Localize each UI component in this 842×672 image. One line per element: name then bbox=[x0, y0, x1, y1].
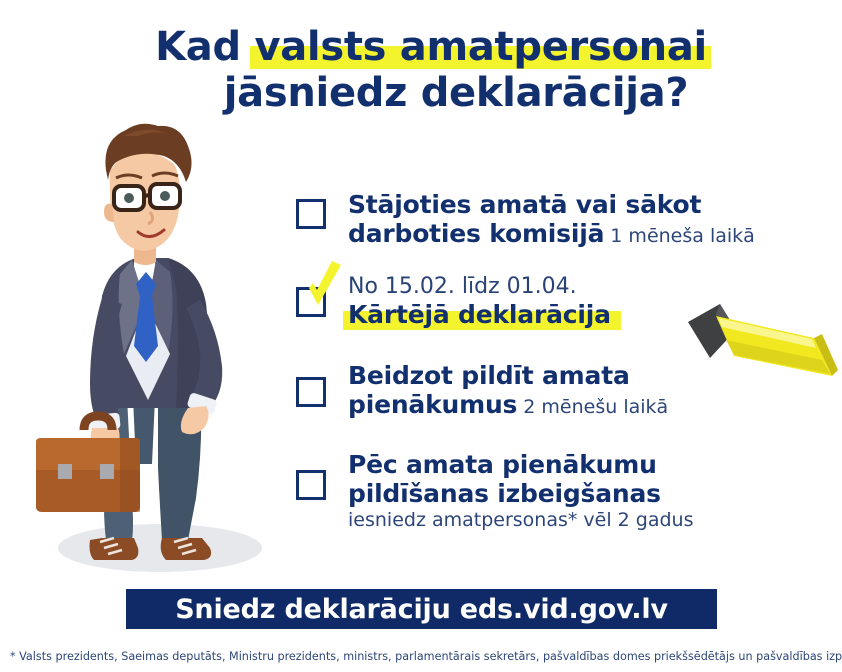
checkbox-unchecked-3[interactable] bbox=[296, 377, 326, 407]
title-plain-text: Kad bbox=[155, 24, 254, 70]
item-1-suffix: 1 mēneša laikā bbox=[604, 225, 755, 247]
checklist-item-2[interactable]: No 15.02. līdz 01.04. Kārtējā deklarācij… bbox=[296, 273, 842, 331]
page-title: Kad valsts amatpersonai jāsniedz deklarā… bbox=[0, 24, 842, 116]
glasses-bridge bbox=[144, 195, 150, 196]
item-4-line-1: Pēc amata pienākumu bbox=[348, 450, 842, 479]
checklist-item-3-text: Beidzot pildīt amata pienākumus 2 mēnešu… bbox=[348, 361, 842, 422]
cta-banner[interactable]: Sniedz deklarāciju eds.vid.gov.lv bbox=[126, 589, 717, 629]
shoe-right bbox=[161, 538, 211, 560]
item-2-date-range: No 15.02. līdz 01.04. bbox=[348, 273, 842, 300]
floor-shadow bbox=[58, 524, 262, 572]
cta-banner-text: Sniedz deklarāciju eds.vid.gov.lv bbox=[175, 594, 668, 625]
declaration-checklist: Stājoties amatā vai sākot darboties komi… bbox=[296, 190, 842, 533]
item-3-line-2: pienākumus 2 mēnešu laikā bbox=[348, 390, 842, 422]
item-4-line-2: pildīšanas izbeigšanas bbox=[348, 479, 842, 508]
checklist-item-4[interactable]: Pēc amata pienākumu pildīšanas izbeigšan… bbox=[296, 450, 842, 533]
item-2-highlighted-label: Kārtējā deklarācija bbox=[348, 300, 611, 329]
item-1-line-2: darboties komisijā 1 mēneša laikā bbox=[348, 219, 842, 251]
businessman-illustration bbox=[28, 108, 288, 578]
item-1-line-1: Stājoties amatā vai sākot bbox=[348, 190, 842, 219]
checkbox-unchecked-1[interactable] bbox=[296, 199, 326, 229]
briefcase-clasp-right bbox=[100, 464, 114, 479]
checkbox-checked-2[interactable] bbox=[296, 287, 326, 317]
briefcase-clasp-left bbox=[58, 464, 72, 479]
title-highlighted-text: valsts amatpersonai bbox=[254, 24, 706, 70]
checklist-item-4-text: Pēc amata pienākumu pildīšanas izbeigšan… bbox=[348, 450, 842, 533]
shoe-left bbox=[90, 538, 139, 560]
checklist-item-3[interactable]: Beidzot pildīt amata pienākumus 2 mēnešu… bbox=[296, 361, 842, 422]
item-1-line-2-main: darboties komisijā bbox=[348, 219, 604, 248]
item-2-line-1: Kārtējā deklarācija bbox=[348, 300, 842, 329]
item-4-note: iesniedz amatpersonas* vēl 2 gadus bbox=[348, 508, 842, 533]
title-line-1: Kad valsts amatpersonai bbox=[0, 24, 842, 70]
checklist-item-2-text: No 15.02. līdz 01.04. Kārtējā deklarācij… bbox=[348, 273, 842, 329]
item-3-line-1: Beidzot pildīt amata bbox=[348, 361, 842, 390]
eye-left bbox=[124, 193, 134, 203]
eye-right bbox=[160, 191, 170, 201]
infographic-canvas: Kad valsts amatpersonai jāsniedz deklarā… bbox=[0, 0, 842, 672]
item-3-suffix: 2 mēnešu laikā bbox=[517, 396, 668, 418]
checklist-item-1-text: Stājoties amatā vai sākot darboties komi… bbox=[348, 190, 842, 251]
item-3-line-2-main: pienākumus bbox=[348, 390, 517, 419]
footnote: * Valsts prezidents, Saeimas deputāts, M… bbox=[10, 650, 834, 664]
checkbox-unchecked-4[interactable] bbox=[296, 470, 326, 500]
checklist-item-1[interactable]: Stājoties amatā vai sākot darboties komi… bbox=[296, 190, 842, 251]
briefcase-shade bbox=[120, 438, 140, 512]
